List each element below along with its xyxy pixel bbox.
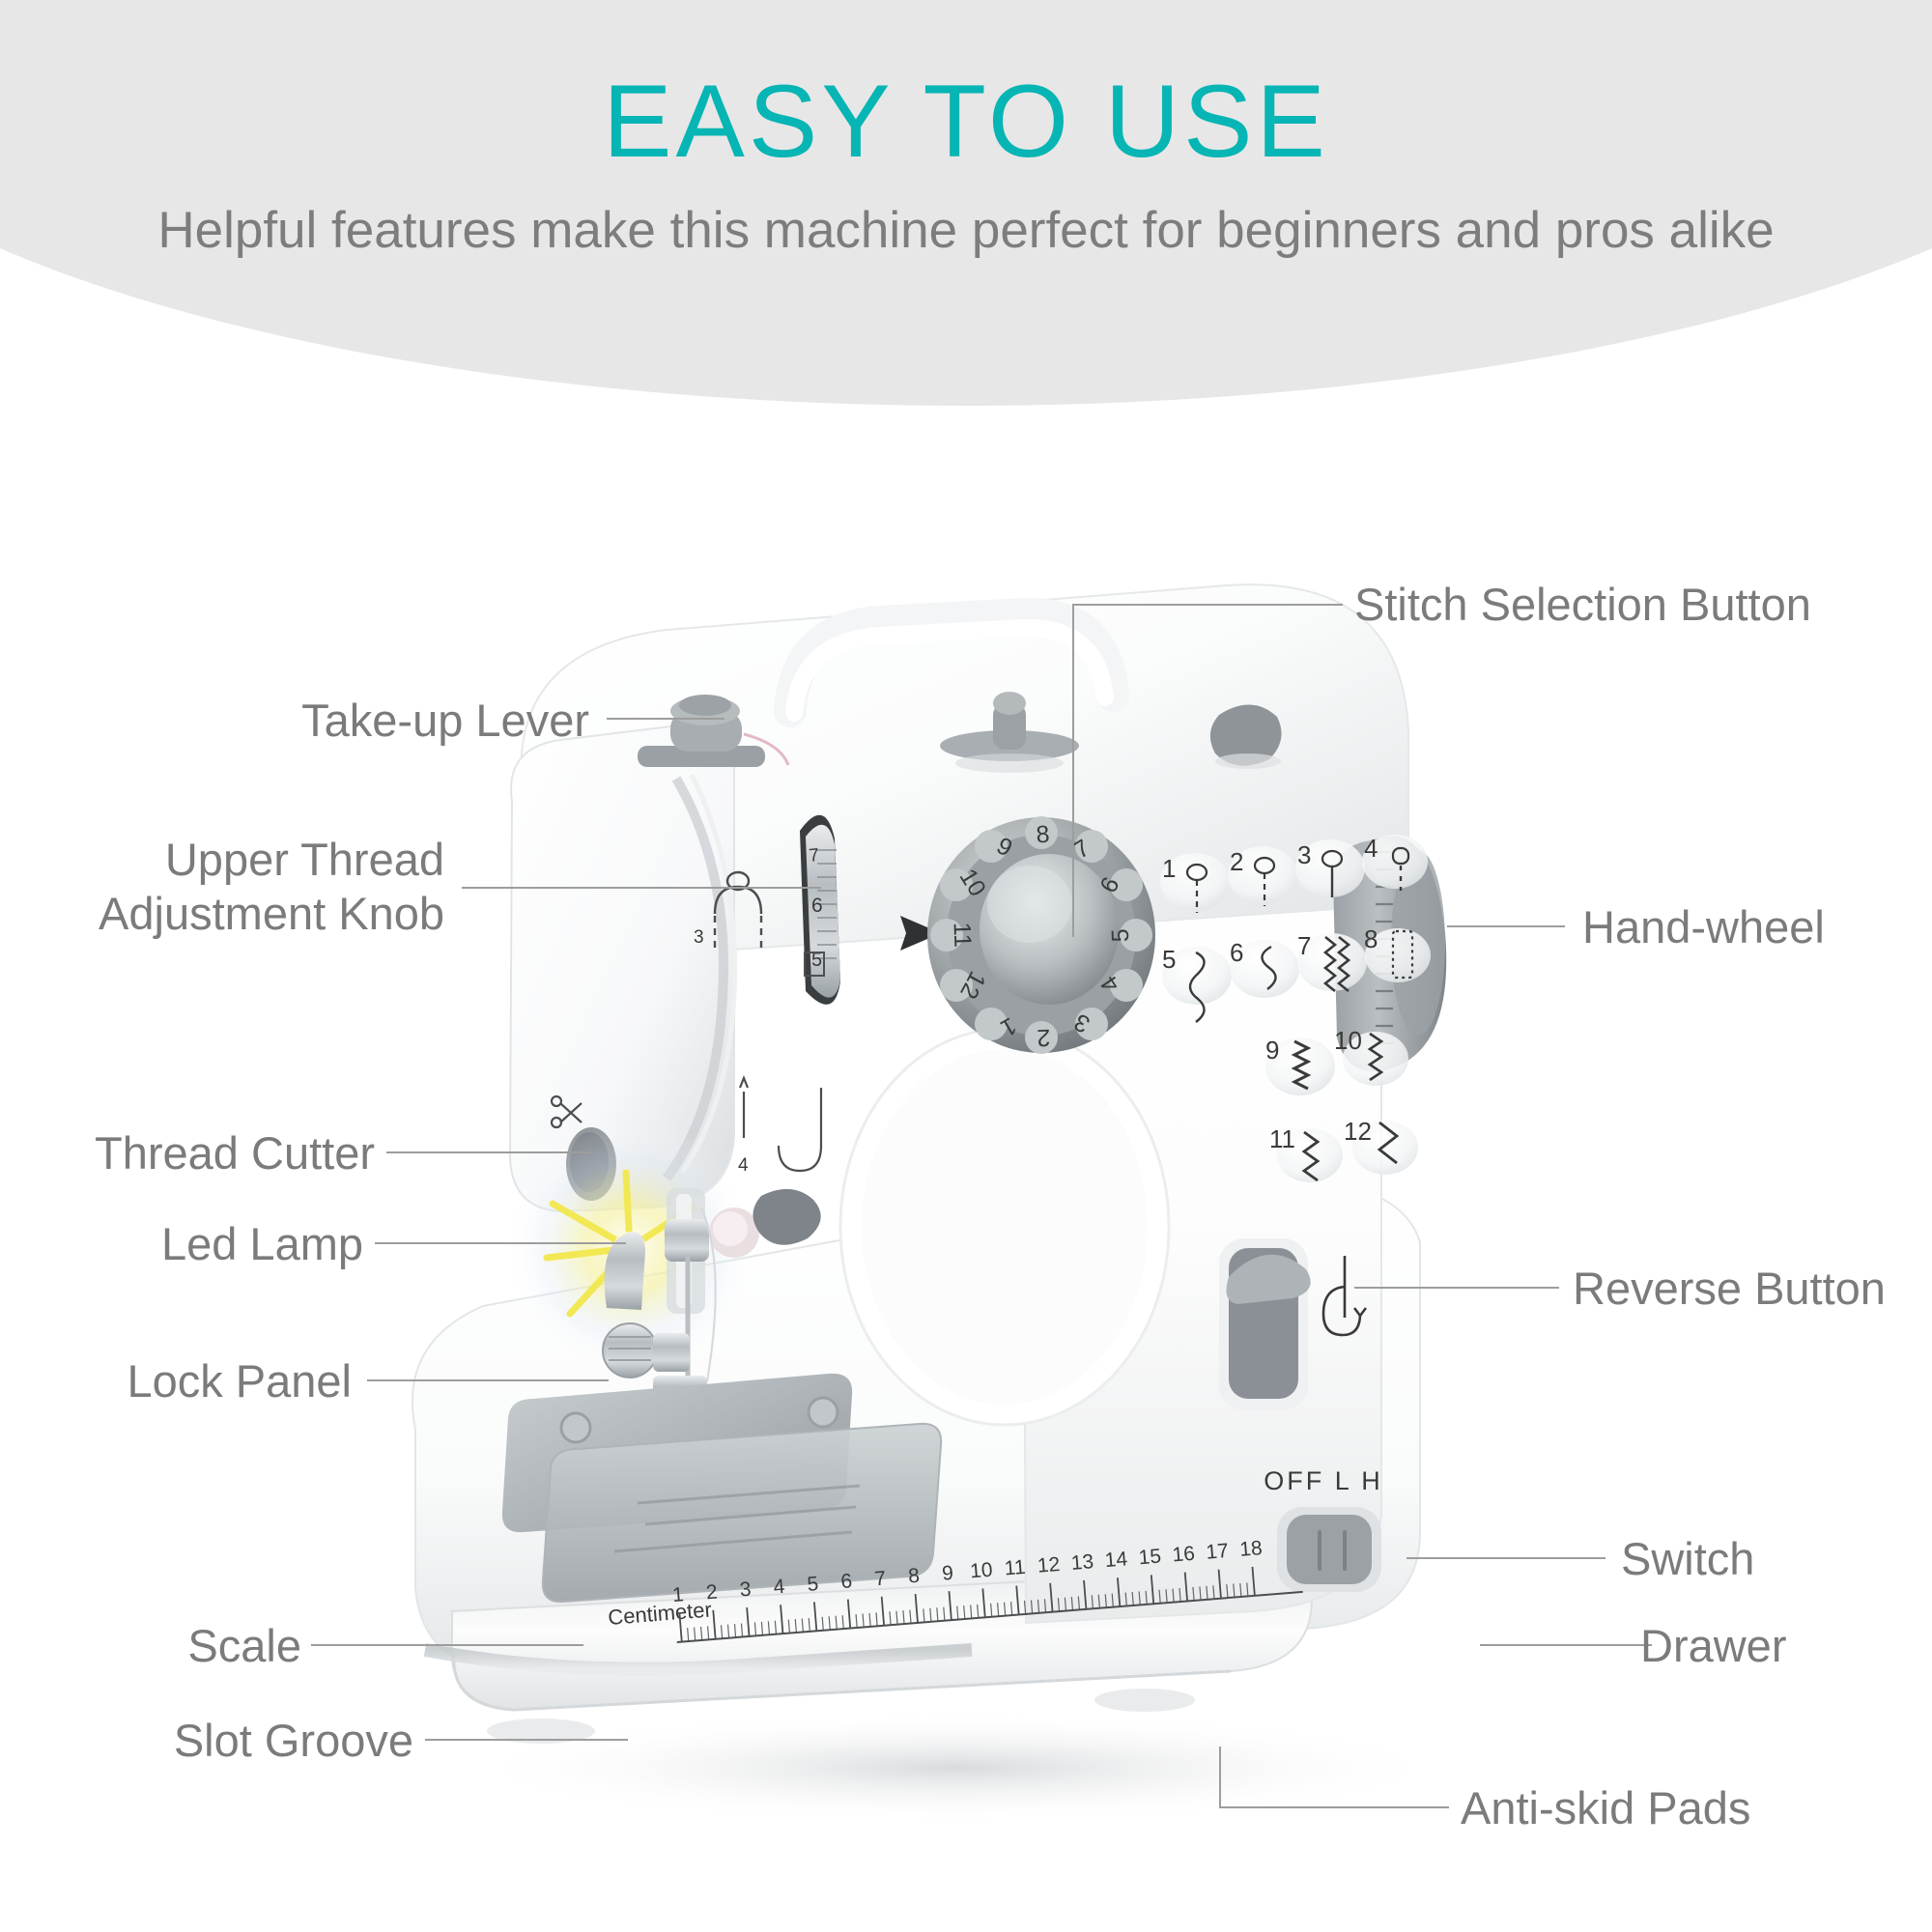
- svg-text:2: 2: [1230, 847, 1243, 876]
- leader-anti-skid-vertical: [1219, 1747, 1221, 1808]
- leader-reverse-button: [1354, 1287, 1559, 1289]
- svg-text:16: 16: [1172, 1543, 1196, 1567]
- svg-text:4: 4: [1364, 834, 1378, 863]
- svg-text:8: 8: [907, 1565, 920, 1588]
- callout-scale: Scale: [0, 1619, 301, 1673]
- leader-stitch-selection-horizontal: [1072, 604, 1343, 606]
- leader-drawer: [1480, 1644, 1652, 1646]
- callout-upper-thread-adjustment-knob: Upper Thread Adjustment Knob: [0, 833, 444, 942]
- svg-text:13: 13: [1070, 1550, 1094, 1575]
- plate-screw-left: [561, 1413, 590, 1442]
- power-switch: OFF L H: [1264, 1466, 1383, 1592]
- svg-text:6: 6: [811, 895, 823, 917]
- leader-led-lamp: [375, 1242, 626, 1244]
- svg-text:3: 3: [739, 1578, 752, 1602]
- upper-thread-tension-knob: 7 6 5: [800, 815, 840, 1005]
- svg-text:11: 11: [1269, 1124, 1295, 1153]
- needle-threader-icons: 4: [738, 1078, 821, 1176]
- callout-thread-cutter: Thread Cutter: [0, 1126, 375, 1180]
- svg-text:10: 10: [1334, 1026, 1362, 1055]
- svg-text:12: 12: [1037, 1553, 1061, 1577]
- leader-stitch-selection-vertical: [1072, 604, 1074, 937]
- shoulder-nub: [1210, 704, 1282, 769]
- callout-take-up-lever: Take-up Lever: [87, 694, 589, 748]
- svg-text:1: 1: [1162, 854, 1176, 883]
- callout-hand-wheel: Hand-wheel: [1582, 900, 1825, 954]
- callout-stitch-selection-button: Stitch Selection Button: [1354, 578, 1811, 632]
- svg-text:1: 1: [671, 1583, 684, 1606]
- callout-anti-skid-pads: Anti-skid Pads: [1461, 1781, 1750, 1835]
- leader-hand-wheel: [1447, 925, 1565, 927]
- callout-drawer: Drawer: [1640, 1619, 1786, 1673]
- leader-slot-groove: [425, 1739, 628, 1741]
- svg-text:17: 17: [1206, 1540, 1230, 1564]
- anti-skid-pad-right: [1094, 1689, 1195, 1712]
- svg-text:7: 7: [1297, 931, 1311, 960]
- infographic-canvas: EASY TO USE Helpful features make this m…: [0, 0, 1932, 1932]
- svg-text:11: 11: [949, 922, 977, 948]
- svg-text:18: 18: [1238, 1537, 1263, 1561]
- leader-anti-skid-horizontal: [1219, 1806, 1449, 1808]
- svg-text:10: 10: [969, 1559, 993, 1583]
- callout-switch: Switch: [1621, 1532, 1754, 1586]
- svg-text:5: 5: [1162, 945, 1176, 974]
- stitch-selection-dial: 1 2 3 4 5 6 7 8 9 10 11 12: [927, 816, 1155, 1054]
- svg-text:6: 6: [840, 1570, 853, 1593]
- plate-screw-right: [809, 1398, 838, 1427]
- svg-text:2: 2: [1037, 1024, 1051, 1051]
- callout-lock-panel: Lock Panel: [0, 1354, 352, 1408]
- callout-led-lamp: Led Lamp: [0, 1217, 363, 1271]
- svg-text:11: 11: [1004, 1556, 1027, 1580]
- svg-text:2: 2: [705, 1580, 718, 1604]
- svg-text:9: 9: [1265, 1036, 1279, 1065]
- svg-text:7: 7: [873, 1567, 886, 1590]
- leader-thread-cutter: [386, 1151, 591, 1153]
- svg-text:8: 8: [1364, 924, 1378, 953]
- leader-scale: [311, 1644, 583, 1646]
- leader-take-up-lever: [607, 718, 724, 720]
- svg-text:4: 4: [738, 1155, 749, 1176]
- callout-slot-groove: Slot Groove: [0, 1714, 413, 1768]
- svg-text:4: 4: [773, 1576, 786, 1599]
- svg-text:14: 14: [1104, 1548, 1128, 1572]
- svg-text:3: 3: [1297, 840, 1311, 869]
- leader-switch: [1406, 1557, 1605, 1559]
- svg-text:3: 3: [694, 927, 704, 948]
- svg-text:5: 5: [1107, 928, 1134, 943]
- svg-text:15: 15: [1138, 1546, 1162, 1570]
- callout-reverse-button: Reverse Button: [1573, 1262, 1886, 1316]
- svg-text:12: 12: [1344, 1117, 1372, 1146]
- svg-text:7: 7: [808, 845, 820, 867]
- svg-text:9: 9: [941, 1562, 953, 1585]
- svg-text:6: 6: [1230, 938, 1243, 967]
- stitch-key-3: 3: [1295, 839, 1365, 897]
- switch-scale-label: OFF L H: [1264, 1466, 1383, 1495]
- svg-text:5: 5: [807, 1573, 819, 1596]
- leader-lock-panel: [367, 1379, 609, 1381]
- svg-text:8: 8: [1036, 821, 1051, 849]
- leader-upper-thread-knob: [462, 887, 821, 889]
